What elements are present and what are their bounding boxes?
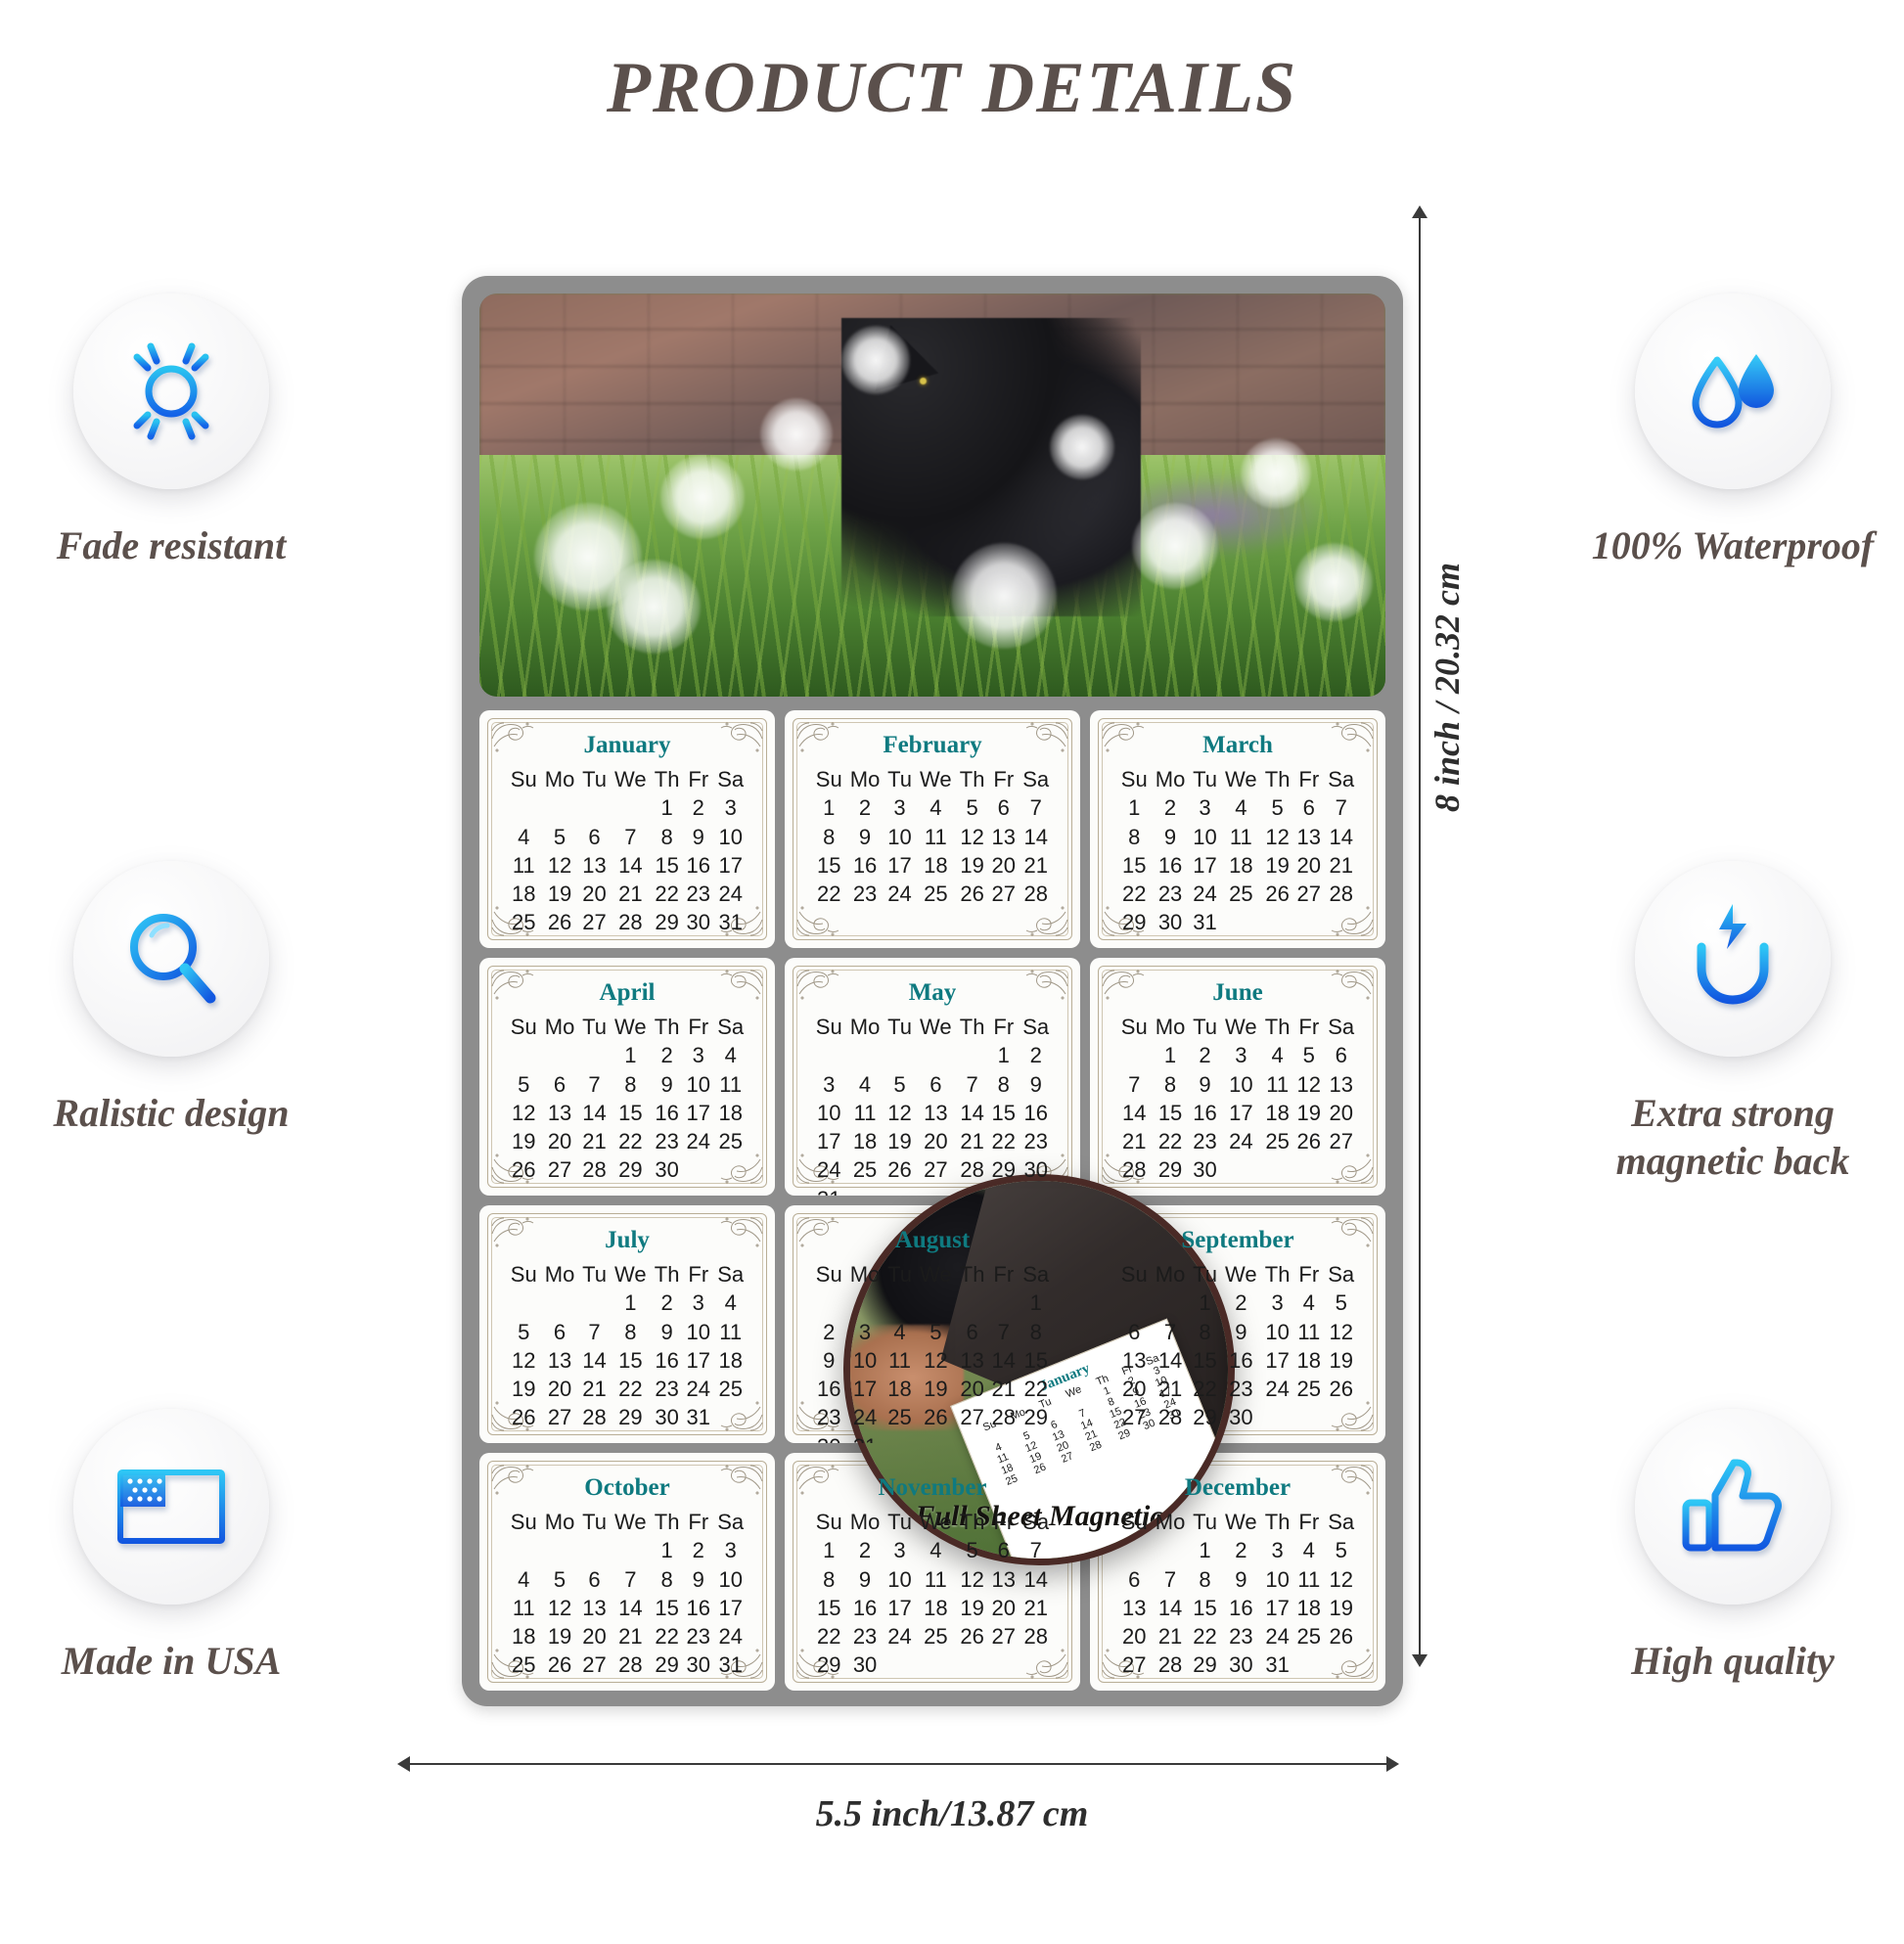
day-cell: 21 (1117, 1127, 1151, 1155)
weekday-header: Tu (579, 765, 611, 793)
weekday-header: Tu (884, 765, 916, 793)
day-cell: 18 (713, 1346, 748, 1375)
feature-label: 100% Waterproof (1571, 522, 1894, 570)
thumbs-up-icon (1635, 1409, 1831, 1605)
day-cell: 20 (1293, 851, 1324, 880)
weekday-header: We (1220, 1013, 1261, 1041)
day-cell: 20 (1117, 1375, 1151, 1403)
day-cell: 11 (1220, 823, 1261, 851)
day-cell: 5 (884, 1070, 916, 1099)
day-cell: 28 (1151, 1650, 1189, 1679)
dandelion-puff (1132, 503, 1218, 589)
sun-icon (73, 294, 269, 489)
day-cell: 29 (651, 1650, 683, 1679)
day-cell: 30 (812, 1432, 845, 1444)
day-cell: 2 (1019, 1041, 1053, 1069)
day-cell: 30 (1190, 1155, 1221, 1184)
day-cell: 9 (1220, 1318, 1261, 1346)
day-cell: 19 (540, 880, 578, 908)
month-name: March (1098, 732, 1378, 759)
day-cell: 11 (507, 1594, 540, 1622)
week-row: 17181920212223 (812, 1127, 1053, 1155)
month-table: SuMoTuWeThFrSa12345678910111213141516171… (507, 1013, 748, 1185)
day-cell: 23 (1019, 1127, 1053, 1155)
day-cell: 6 (1117, 1318, 1151, 1346)
day-cell: 24 (1220, 1127, 1261, 1155)
weekday-header: Th (651, 1508, 683, 1536)
dandelion-puff (1050, 415, 1114, 479)
day-cell: 16 (683, 851, 713, 880)
week-row: 15161718192021 (812, 851, 1053, 880)
week-row: 10111213141516 (812, 1099, 1053, 1127)
day-cell: 30 (1019, 1155, 1053, 1184)
day-cell: 22 (651, 1622, 683, 1650)
feature-high-quality: High quality (1571, 1409, 1894, 1686)
weekday-header: Mo (1151, 1013, 1189, 1041)
day-cell: 6 (1293, 793, 1324, 822)
day-cell (988, 1650, 1019, 1679)
day-cell: 21 (579, 1375, 611, 1403)
day-cell: 15 (1019, 1346, 1053, 1375)
day-cell: 2 (1151, 793, 1189, 822)
day-cell: 24 (713, 1622, 748, 1650)
week-row: 3456789 (812, 1070, 1053, 1099)
day-cell (1261, 1155, 1293, 1184)
feature-realistic-design: Ralistic design (10, 861, 333, 1138)
day-cell: 27 (988, 880, 1019, 908)
day-cell: 2 (1190, 1041, 1221, 1069)
day-cell: 29 (1190, 1650, 1221, 1679)
day-cell: 15 (651, 1594, 683, 1622)
feature-fade-resistant: Fade resistant (10, 294, 333, 570)
week-row: 282930 (1117, 1155, 1358, 1184)
weekday-header: Tu (579, 1260, 611, 1288)
week-row: 23242526272829 (812, 1403, 1053, 1431)
day-cell (1220, 1155, 1261, 1184)
day-cell: 7 (1151, 1318, 1189, 1346)
day-cell (915, 1185, 956, 1197)
day-cell: 21 (1019, 1594, 1053, 1622)
day-cell (1324, 908, 1358, 936)
day-cell (540, 1041, 578, 1069)
day-cell: 2 (683, 1536, 713, 1564)
day-cell: 12 (1324, 1318, 1358, 1346)
day-cell: 15 (812, 1594, 845, 1622)
day-cell: 20 (579, 1622, 611, 1650)
day-cell: 8 (610, 1070, 651, 1099)
month-card: AprilSuMoTuWeThFrSa123456789101112131415… (479, 958, 775, 1196)
day-cell: 4 (884, 1318, 916, 1346)
weekday-header: We (915, 765, 956, 793)
month-name: July (487, 1227, 767, 1254)
day-cell: 21 (1019, 851, 1053, 880)
dandelion-puff (607, 560, 701, 654)
week-row: 18192021222324 (507, 880, 748, 908)
weekday-header: Th (1261, 1013, 1293, 1041)
day-cell (507, 1288, 540, 1317)
day-cell (884, 1185, 916, 1197)
day-cell: 1 (1019, 1288, 1053, 1317)
day-cell: 10 (713, 823, 748, 851)
day-cell (1019, 1432, 1053, 1444)
day-cell: 2 (651, 1288, 683, 1317)
week-row: 2627282930 (507, 1155, 748, 1184)
day-cell: 6 (540, 1318, 578, 1346)
day-cell: 29 (812, 1650, 845, 1679)
day-cell: 14 (1151, 1346, 1189, 1375)
weekday-header: Fr (988, 1013, 1019, 1041)
weekday-header-row: SuMoTuWeThFrSa (812, 1508, 1053, 1536)
month-table: SuMoTuWeThFrSa12345678910111213141516171… (812, 1260, 1053, 1443)
day-cell: 2 (845, 793, 884, 822)
day-cell: 7 (1019, 793, 1053, 822)
day-cell: 21 (988, 1375, 1019, 1403)
feature-magnetic-back: Extra strong magnetic back (1571, 861, 1894, 1186)
day-cell: 9 (1151, 823, 1189, 851)
day-cell: 2 (1220, 1536, 1261, 1564)
week-row: 1234567 (1117, 793, 1358, 822)
month-card: DecemberSuMoTuWeThFrSa123456789101112131… (1090, 1453, 1385, 1691)
month-table: SuMoTuWeThFrSa12345678910111213141516171… (1117, 765, 1358, 937)
day-cell: 10 (1261, 1565, 1293, 1594)
day-cell: 24 (884, 880, 916, 908)
weekday-header: Tu (579, 1013, 611, 1041)
month-name: June (1098, 979, 1378, 1007)
day-cell (884, 1288, 916, 1317)
day-cell (915, 1288, 956, 1317)
day-cell: 23 (683, 880, 713, 908)
weekday-header: Su (507, 1508, 540, 1536)
day-cell: 1 (812, 1536, 845, 1564)
day-cell (915, 1432, 956, 1444)
day-cell: 12 (1324, 1565, 1358, 1594)
day-cell: 22 (1190, 1622, 1221, 1650)
day-cell: 17 (884, 851, 916, 880)
day-cell: 15 (1151, 1099, 1189, 1127)
day-cell (1293, 1155, 1324, 1184)
day-cell: 20 (956, 1375, 988, 1403)
weekday-header: Th (956, 1260, 988, 1288)
day-cell: 9 (1019, 1070, 1053, 1099)
day-cell: 17 (713, 851, 748, 880)
day-cell: 13 (540, 1346, 578, 1375)
week-row: 262728293031 (507, 1403, 748, 1431)
day-cell (988, 1432, 1019, 1444)
day-cell: 20 (1117, 1622, 1151, 1650)
weekday-header: Th (1261, 1260, 1293, 1288)
day-cell: 16 (651, 1346, 683, 1375)
day-cell: 8 (610, 1318, 651, 1346)
month-card: MarchSuMoTuWeThFrSa123456789101112131415… (1090, 710, 1385, 948)
day-cell: 22 (812, 880, 845, 908)
week-row: 13141516171819 (1117, 1594, 1358, 1622)
month-table: SuMoTuWeThFrSa12345678910111213141516171… (812, 1508, 1053, 1680)
month-name: December (1098, 1474, 1378, 1502)
day-cell: 10 (683, 1070, 713, 1099)
day-cell: 12 (507, 1346, 540, 1375)
day-cell: 2 (1220, 1288, 1261, 1317)
month-table: SuMoTuWeThFrSa12345678910111213141516171… (812, 765, 1053, 908)
day-cell: 7 (988, 1318, 1019, 1346)
day-cell: 30 (1220, 1650, 1261, 1679)
weekday-header: Sa (1324, 765, 1358, 793)
day-cell: 13 (1293, 823, 1324, 851)
feature-waterproof: 100% Waterproof (1571, 294, 1894, 570)
day-cell: 2 (812, 1318, 845, 1346)
day-cell: 25 (884, 1403, 916, 1431)
weekday-header: Tu (884, 1508, 916, 1536)
day-cell: 19 (956, 1594, 988, 1622)
day-cell: 17 (1220, 1099, 1261, 1127)
day-cell: 8 (651, 1565, 683, 1594)
day-cell (1261, 1403, 1293, 1431)
day-cell (713, 1155, 748, 1184)
day-cell: 5 (507, 1318, 540, 1346)
day-cell: 7 (1324, 793, 1358, 822)
day-cell: 19 (884, 1127, 916, 1155)
day-cell: 13 (915, 1099, 956, 1127)
day-cell: 22 (651, 880, 683, 908)
day-cell: 16 (845, 1594, 884, 1622)
day-cell: 27 (1117, 1403, 1151, 1431)
day-cell: 13 (1117, 1594, 1151, 1622)
day-cell: 17 (683, 1099, 713, 1127)
day-cell: 30 (845, 1650, 884, 1679)
day-cell: 10 (713, 1565, 748, 1594)
day-cell: 27 (956, 1403, 988, 1431)
day-cell (1261, 908, 1293, 936)
day-cell: 8 (988, 1070, 1019, 1099)
day-cell: 29 (988, 1155, 1019, 1184)
day-cell: 14 (610, 1594, 651, 1622)
weekday-header: Su (1117, 765, 1151, 793)
week-row: 20212223242526 (1117, 1622, 1358, 1650)
day-cell: 22 (1190, 1375, 1221, 1403)
week-row: 11121314151617 (507, 1594, 748, 1622)
weekday-header: We (610, 1013, 651, 1041)
day-cell: 1 (812, 793, 845, 822)
day-cell: 23 (1151, 880, 1189, 908)
day-cell: 16 (651, 1099, 683, 1127)
day-cell: 7 (956, 1070, 988, 1099)
day-cell (1019, 1185, 1053, 1197)
day-cell: 7 (610, 1565, 651, 1594)
day-cell: 22 (1019, 1375, 1053, 1403)
dandelion-puff (760, 398, 833, 471)
weekday-header: Sa (1324, 1508, 1358, 1536)
day-cell: 29 (1117, 908, 1151, 936)
weekday-header: Mo (1151, 1260, 1189, 1288)
day-cell: 19 (915, 1375, 956, 1403)
day-cell: 31 (845, 1432, 884, 1444)
day-cell: 7 (1151, 1565, 1189, 1594)
day-cell: 25 (1220, 880, 1261, 908)
weekday-header: Tu (1190, 1508, 1221, 1536)
day-cell: 28 (956, 1155, 988, 1184)
day-cell: 1 (610, 1288, 651, 1317)
day-cell (579, 793, 611, 822)
height-dimension-line (1419, 217, 1421, 1655)
day-cell: 10 (683, 1318, 713, 1346)
day-cell: 18 (713, 1099, 748, 1127)
day-cell: 18 (1293, 1346, 1324, 1375)
calendar-product[interactable]: JanuarySuMoTuWeThFrSa1234567891011121314… (462, 276, 1403, 1706)
day-cell: 12 (1261, 823, 1293, 851)
weekday-header: Fr (1293, 1013, 1324, 1041)
day-cell: 18 (845, 1127, 884, 1155)
day-cell: 6 (1117, 1565, 1151, 1594)
day-cell: 15 (988, 1099, 1019, 1127)
day-cell: 14 (579, 1346, 611, 1375)
month-name: November (793, 1474, 1072, 1502)
weekday-header: Mo (540, 765, 578, 793)
day-cell: 26 (884, 1155, 916, 1184)
day-cell: 5 (1324, 1288, 1358, 1317)
weekday-header: Fr (988, 1260, 1019, 1288)
day-cell (579, 1288, 611, 1317)
day-cell (507, 1536, 540, 1564)
day-cell (884, 1432, 916, 1444)
weekday-header-row: SuMoTuWeThFrSa (507, 1260, 748, 1288)
day-cell: 27 (1293, 880, 1324, 908)
day-cell: 11 (1293, 1565, 1324, 1594)
weekday-header-row: SuMoTuWeThFrSa (507, 1013, 748, 1041)
day-cell: 30 (651, 1155, 683, 1184)
day-cell: 14 (579, 1099, 611, 1127)
day-cell: 3 (884, 793, 916, 822)
day-cell: 7 (1019, 1536, 1053, 1564)
day-cell: 24 (1261, 1622, 1293, 1650)
day-cell: 16 (1151, 851, 1189, 880)
day-cell (1151, 1536, 1189, 1564)
day-cell: 26 (1324, 1375, 1358, 1403)
weekday-header: We (1220, 1508, 1261, 1536)
weekday-header: We (915, 1013, 956, 1041)
day-cell: 12 (956, 823, 988, 851)
day-cell: 23 (1190, 1127, 1221, 1155)
day-cell: 7 (579, 1070, 611, 1099)
weekday-header: Sa (1324, 1013, 1358, 1041)
day-cell (1220, 908, 1261, 936)
day-cell: 28 (1019, 1622, 1053, 1650)
day-cell (683, 1155, 713, 1184)
day-cell: 18 (915, 1594, 956, 1622)
day-cell (1117, 1288, 1151, 1317)
day-cell: 1 (1151, 1041, 1189, 1069)
month-card: OctoberSuMoTuWeThFrSa1234567891011121314… (479, 1453, 775, 1691)
feature-label: Fade resistant (10, 522, 333, 570)
day-cell (540, 793, 578, 822)
day-cell: 16 (1220, 1594, 1261, 1622)
month-name: October (487, 1474, 767, 1502)
day-cell: 26 (956, 880, 988, 908)
day-cell: 22 (1151, 1127, 1189, 1155)
day-cell: 3 (1261, 1536, 1293, 1564)
day-cell (988, 1288, 1019, 1317)
feature-label: Ralistic design (10, 1090, 333, 1138)
day-cell: 31 (713, 1650, 748, 1679)
day-cell: 26 (507, 1155, 540, 1184)
week-row: 27282930 (1117, 1403, 1358, 1431)
weekday-header: Th (956, 765, 988, 793)
day-cell: 22 (610, 1127, 651, 1155)
day-cell: 10 (884, 823, 916, 851)
day-cell: 4 (713, 1041, 748, 1069)
day-cell: 16 (845, 851, 884, 880)
week-row: 78910111213 (1117, 1070, 1358, 1099)
day-cell (610, 1536, 651, 1564)
day-cell: 25 (713, 1127, 748, 1155)
day-cell: 25 (915, 1622, 956, 1650)
weekday-header-row: SuMoTuWeThFrSa (1117, 1260, 1358, 1288)
month-card: MaySuMoTuWeThFrSa12345678910111213141516… (785, 958, 1080, 1196)
day-cell: 27 (1324, 1127, 1358, 1155)
weekday-header: Th (1261, 765, 1293, 793)
day-cell: 22 (988, 1127, 1019, 1155)
day-cell: 30 (1220, 1403, 1261, 1431)
day-cell: 29 (610, 1403, 651, 1431)
week-row: 123456 (1117, 1041, 1358, 1069)
day-cell (915, 1650, 956, 1679)
day-cell: 25 (915, 880, 956, 908)
day-cell: 26 (1293, 1127, 1324, 1155)
day-cell: 16 (1190, 1099, 1221, 1127)
month-card: SeptemberSuMoTuWeThFrSa12345678910111213… (1090, 1205, 1385, 1443)
day-cell: 9 (1190, 1070, 1221, 1099)
day-cell: 10 (1220, 1070, 1261, 1099)
week-row: 2345678 (812, 1318, 1053, 1346)
day-cell: 13 (1117, 1346, 1151, 1375)
day-cell: 13 (988, 823, 1019, 851)
week-row: 12345 (1117, 1536, 1358, 1564)
weekday-header: Su (812, 765, 845, 793)
week-row: 11121314151617 (507, 851, 748, 880)
month-table: SuMoTuWeThFrSa12345678910111213141516171… (1117, 1260, 1358, 1432)
day-cell: 27 (579, 908, 611, 936)
day-cell: 8 (812, 823, 845, 851)
day-cell: 5 (956, 793, 988, 822)
day-cell: 10 (845, 1346, 884, 1375)
day-cell: 24 (1261, 1375, 1293, 1403)
day-cell: 7 (1117, 1070, 1151, 1099)
day-cell: 9 (845, 1565, 884, 1594)
week-row: 1234567 (812, 793, 1053, 822)
width-dimension-label: 5.5 inch/13.87 cm (0, 1792, 1904, 1835)
day-cell (956, 1041, 988, 1069)
month-card: NovemberSuMoTuWeThFrSa123456789101112131… (785, 1453, 1080, 1691)
day-cell (507, 1041, 540, 1069)
month-table: SuMoTuWeThFrSa12345678910111213141516171… (1117, 1508, 1358, 1680)
day-cell: 24 (845, 1403, 884, 1431)
day-cell: 14 (988, 1346, 1019, 1375)
day-cell: 18 (884, 1375, 916, 1403)
day-cell: 23 (845, 1622, 884, 1650)
day-cell: 13 (988, 1565, 1019, 1594)
day-cell: 28 (610, 1650, 651, 1679)
day-cell (540, 1288, 578, 1317)
weekday-header: Fr (683, 1508, 713, 1536)
feature-label: Made in USA (10, 1638, 333, 1686)
day-cell: 29 (1190, 1403, 1221, 1431)
day-cell: 17 (845, 1375, 884, 1403)
day-cell: 3 (713, 1536, 748, 1564)
day-cell: 18 (1261, 1099, 1293, 1127)
week-row: 3031 (812, 1432, 1053, 1444)
weekday-header: Mo (540, 1260, 578, 1288)
week-row: 15161718192021 (1117, 851, 1358, 880)
month-card: FebruarySuMoTuWeThFrSa123456789101112131… (785, 710, 1080, 948)
day-cell: 15 (610, 1099, 651, 1127)
